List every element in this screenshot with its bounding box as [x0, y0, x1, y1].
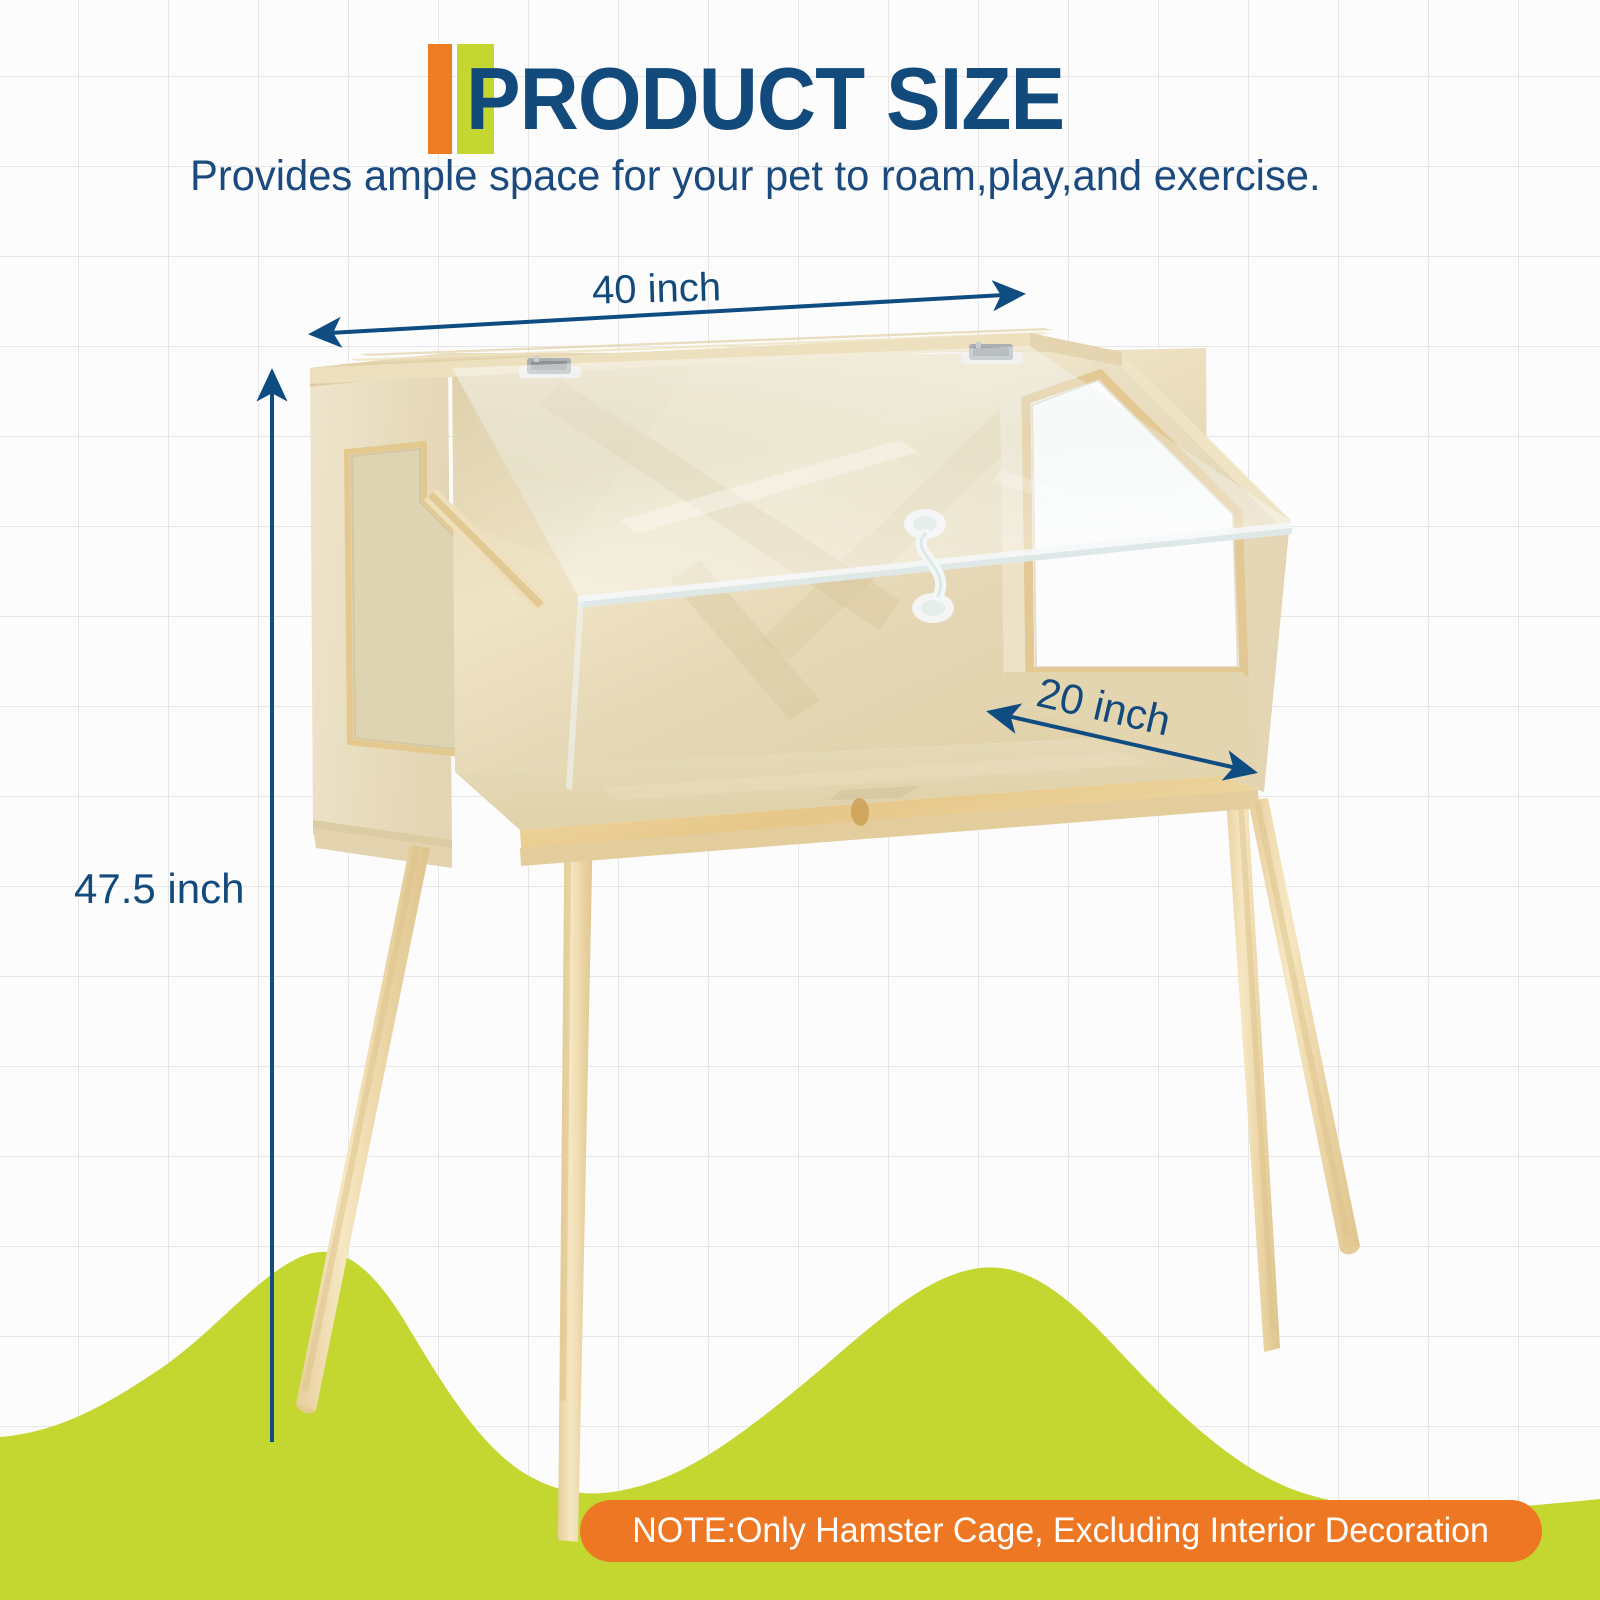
page-title: PRODUCT SIZE — [466, 45, 1064, 153]
width-dimension-label: 40 inch — [591, 265, 721, 314]
product-illustration — [0, 0, 1600, 1600]
height-dimension-label: 47.5 inch — [74, 865, 244, 913]
hamster-cage-body — [296, 328, 1360, 1542]
leg-back-left — [558, 772, 594, 1542]
accent-stripe-orange — [428, 44, 452, 154]
page-subtitle: Provides ample space for your pet to roa… — [190, 152, 1321, 201]
title-row: PRODUCT SIZE — [428, 44, 1139, 154]
note-banner-text: NOTE:Only Hamster Cage, Excluding Interi… — [633, 1511, 1490, 1551]
header: PRODUCT SIZE Provides ample space for yo… — [0, 0, 1600, 230]
note-banner: NOTE:Only Hamster Cage, Excluding Interi… — [580, 1500, 1542, 1562]
